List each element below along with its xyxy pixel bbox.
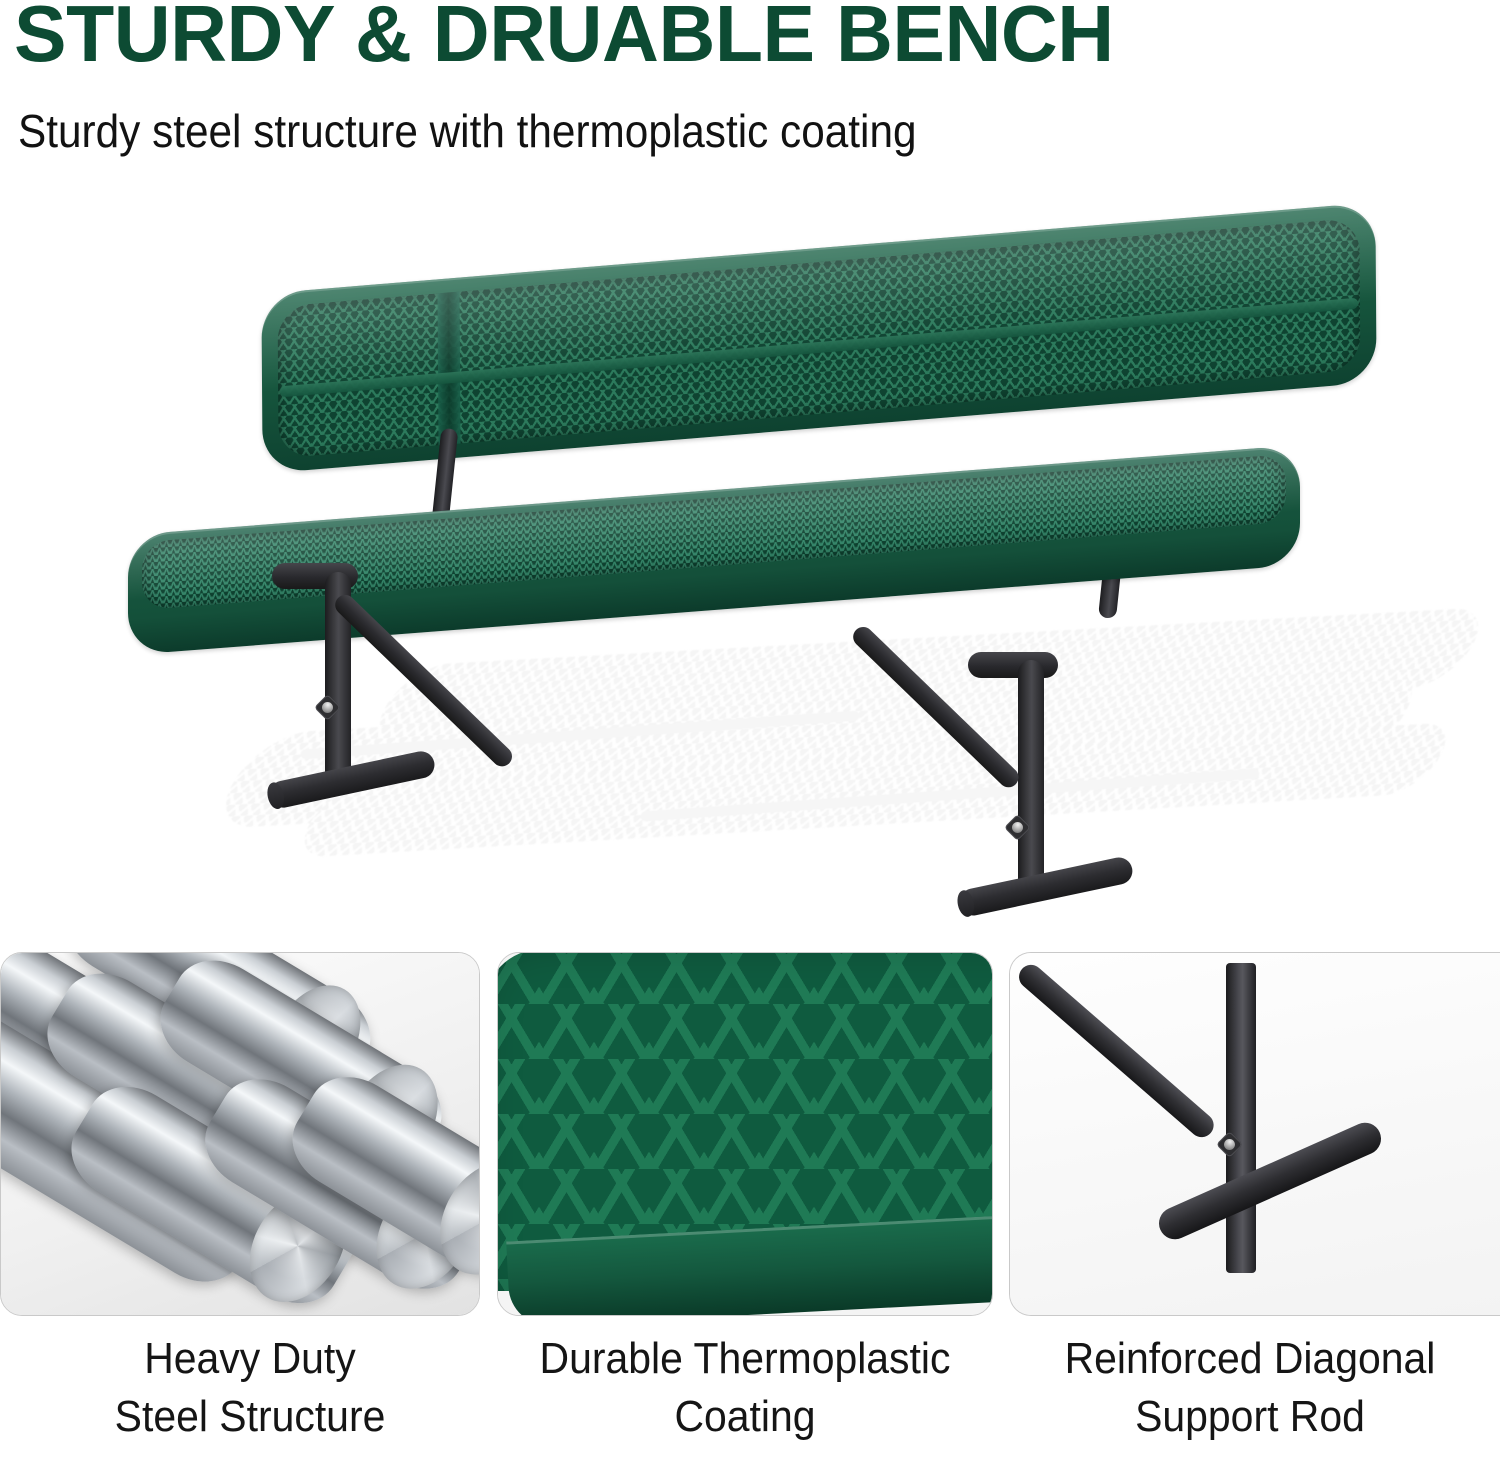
feature-card-heavy-duty-steel[interactable] bbox=[0, 952, 480, 1316]
caption-line-1: Heavy Duty bbox=[18, 1330, 483, 1388]
page-subtitle: Sturdy steel structure with thermoplasti… bbox=[18, 106, 917, 157]
feature-captions: Heavy Duty Steel Structure Durable Therm… bbox=[0, 1330, 1500, 1457]
caption-line-2: Support Rod bbox=[1018, 1388, 1483, 1446]
vertical-leg bbox=[1226, 963, 1256, 1273]
caption-line-2: Coating bbox=[514, 1388, 975, 1446]
diagonal-rod bbox=[1014, 960, 1218, 1142]
mesh-closeup-photo bbox=[498, 953, 992, 1315]
page-headline: STURDY & DRUABLE BENCH bbox=[14, 0, 1114, 76]
steel-rods-photo bbox=[1, 953, 479, 1315]
feature-card-thermoplastic-coating[interactable] bbox=[497, 952, 993, 1316]
feature-card-diagonal-support-rod[interactable] bbox=[1009, 952, 1500, 1316]
caption-line-1: Durable Thermoplastic bbox=[514, 1330, 975, 1388]
horizontal-foot-tube bbox=[1154, 1118, 1386, 1245]
seat-support-stub-right bbox=[968, 652, 1058, 678]
caption-line-1: Reinforced Diagonal bbox=[1018, 1330, 1483, 1388]
caption-line-2: Steel Structure bbox=[18, 1388, 483, 1446]
backrest-vertical-brace bbox=[437, 292, 460, 446]
support-rod-photo bbox=[1010, 953, 1500, 1315]
caption-diagonal-support-rod: Reinforced Diagonal Support Rod bbox=[1018, 1330, 1483, 1446]
feature-cards bbox=[0, 952, 1500, 1317]
caption-thermoplastic-coating: Durable Thermoplastic Coating bbox=[514, 1330, 975, 1446]
bench-leg-right bbox=[1018, 660, 1044, 896]
caption-heavy-duty-steel: Heavy Duty Steel Structure bbox=[18, 1330, 483, 1446]
hero-product-image bbox=[0, 190, 1500, 950]
